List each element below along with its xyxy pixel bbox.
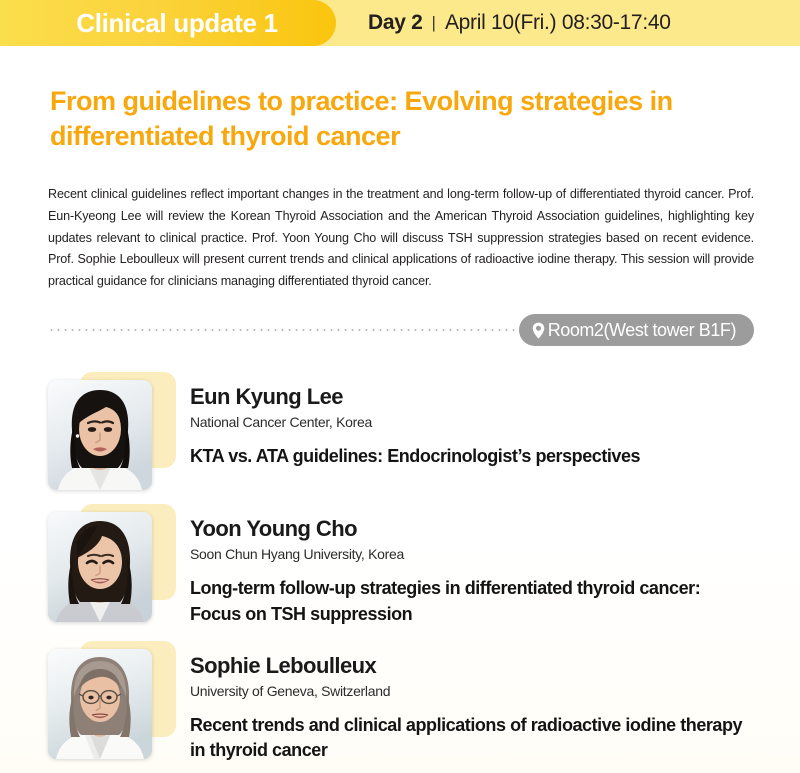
session-header-bar: Clinical update 1 Day 2 | April 10(Fri.)… xyxy=(0,0,800,46)
room-row: Room2(West tower B1F) xyxy=(48,314,754,346)
speaker-item: Eun Kyung Lee National Cancer Center, Ko… xyxy=(48,372,754,490)
speaker-info: Sophie Leboulleux University of Geneva, … xyxy=(190,641,754,764)
portrait-wrapper xyxy=(48,504,176,622)
speaker-info: Eun Kyung Lee National Cancer Center, Ko… xyxy=(190,372,754,469)
portrait-wrapper xyxy=(48,372,176,490)
session-day-label: Day 2 xyxy=(368,11,423,35)
session-title: From guidelines to practice: Evolving st… xyxy=(50,84,710,154)
room-label: Room2(West tower B1F) xyxy=(548,321,736,339)
speaker-list: Eun Kyung Lee National Cancer Center, Ko… xyxy=(0,372,800,763)
speaker-talk-title: KTA vs. ATA guidelines: Endocrinologist’… xyxy=(190,444,754,470)
speaker-talk-title: Long-term follow-up strategies in differ… xyxy=(190,576,754,627)
session-number-badge: Clinical update 1 xyxy=(0,0,336,46)
speaker-name: Sophie Leboulleux xyxy=(190,653,754,679)
location-pin-icon xyxy=(532,322,545,339)
session-card: Clinical update 1 Day 2 | April 10(Fri.)… xyxy=(0,0,800,773)
room-badge: Room2(West tower B1F) xyxy=(519,314,754,346)
portrait-eun-kyung-lee xyxy=(48,380,152,490)
speaker-affiliation: University of Geneva, Switzerland xyxy=(190,682,754,702)
speaker-info: Yoon Young Cho Soon Chun Hyang Universit… xyxy=(190,504,754,627)
speaker-name: Yoon Young Cho xyxy=(190,516,754,542)
speaker-talk-title: Recent trends and clinical applications … xyxy=(190,713,754,764)
portrait-wrapper xyxy=(48,641,176,759)
session-schedule-meta: Day 2 | April 10(Fri.) 08:30-17:40 xyxy=(368,11,671,35)
speaker-affiliation: National Cancer Center, Korea xyxy=(190,413,754,433)
session-badge-label: Clinical update 1 xyxy=(76,10,278,36)
session-abstract: Recent clinical guidelines reflect impor… xyxy=(48,184,754,292)
speaker-item: Yoon Young Cho Soon Chun Hyang Universit… xyxy=(48,504,754,627)
session-datetime-label: April 10(Fri.) 08:30-17:40 xyxy=(445,11,671,35)
portrait-sophie-leboulleux xyxy=(48,649,152,759)
portrait-yoon-young-cho xyxy=(48,512,152,622)
speaker-name: Eun Kyung Lee xyxy=(190,384,754,410)
speaker-affiliation: Soon Chun Hyang University, Korea xyxy=(190,545,754,565)
meta-separator: | xyxy=(432,13,436,33)
speaker-item: Sophie Leboulleux University of Geneva, … xyxy=(48,641,754,764)
